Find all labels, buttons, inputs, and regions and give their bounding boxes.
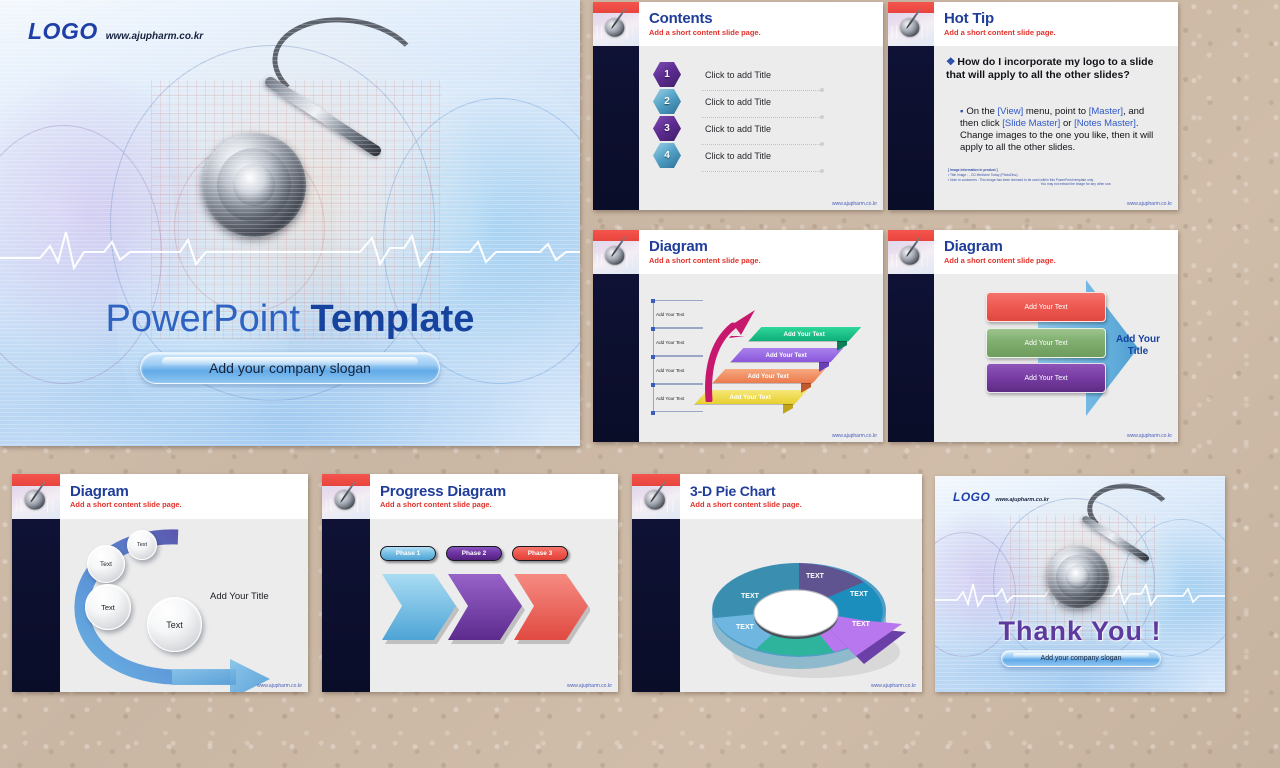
bubble-label: Text — [166, 620, 183, 630]
bubble-label: Text — [101, 603, 115, 612]
ecg-icon — [13, 499, 59, 513]
arrow-diagram-slide[interactable]: Diagram Add a short content slide page. … — [888, 230, 1178, 442]
title-logo[interactable]: LOGO www.ajupharm.co.kr — [28, 18, 203, 45]
header-text: Contents Add a short content slide page. — [639, 2, 761, 46]
diamond-bullet-icon: ❖ — [946, 56, 955, 68]
logo-url: www.ajupharm.co.kr — [995, 497, 1049, 503]
title-slide-heading: PowerPoint Template — [0, 298, 580, 341]
kw-view: [View] — [998, 106, 1024, 117]
flow-bubble-4[interactable]: Text — [147, 597, 202, 652]
logo-text: LOGO — [28, 18, 98, 45]
slogan-text: Add your company slogan — [1041, 655, 1122, 662]
slide-header: Diagram Add a short content slide page. — [888, 230, 1178, 274]
header-thumbnail-image — [888, 230, 934, 274]
slide-subtitle: Add a short content slide page. — [690, 501, 802, 509]
slide-subtitle: Add a short content slide page. — [649, 29, 761, 37]
stethoscope-illustration — [1025, 484, 1185, 616]
step-diagram-slide[interactable]: Diagram Add a short content slide page. … — [593, 230, 883, 442]
slogan-pill[interactable]: Add your company slogan — [140, 352, 440, 384]
toc-number-badge: 1 — [653, 62, 681, 87]
kw-master: [Master] — [1089, 106, 1123, 117]
slide-title: Hot Tip — [944, 11, 1056, 27]
toc-row[interactable]: 1 Click to add Title — [653, 62, 875, 87]
decor-ring — [174, 143, 325, 312]
toc-label: Click to add Title — [705, 151, 771, 161]
header-text: Diagram Add a short content slide page. — [60, 474, 182, 519]
phase-label: Phase 3 — [528, 550, 553, 557]
flow-side-title: Add Your Title — [210, 591, 269, 602]
header-text: Diagram Add a short content slide page. — [934, 230, 1056, 274]
ecg-icon — [323, 499, 369, 513]
title-slide[interactable]: LOGO www.ajupharm.co.kr PowerPoint Templ… — [0, 0, 580, 446]
toc-number-badge: 4 — [653, 143, 681, 168]
slide-header: Hot Tip Add a short content slide page. — [888, 2, 1178, 46]
hot-tip-fine-print: [ Image information in product ] ▪ Title… — [948, 168, 1170, 187]
phase-label: Phase 2 — [462, 550, 487, 557]
phase-label: Phase 1 — [396, 550, 421, 557]
arrow-title-line-2: Title — [1128, 346, 1148, 357]
slide-footer-url[interactable]: www.ajupharm.co.kr — [1127, 201, 1172, 207]
phase-chevrons[interactable] — [374, 568, 590, 646]
square-bullet-icon: ▪ — [960, 106, 963, 117]
slide-title: 3-D Pie Chart — [690, 484, 802, 499]
thankyou-heading: Thank You ! — [935, 616, 1225, 647]
phase-pill-2[interactable]: Phase 2 — [446, 546, 502, 561]
toc-label: Click to add Title — [705, 124, 771, 134]
ecg-waveform — [935, 576, 1225, 612]
kw-slide-master: [Slide Master] — [1002, 118, 1060, 129]
slide-footer-url[interactable]: www.ajupharm.co.kr — [257, 683, 302, 689]
slide-header: Diagram Add a short content slide page. — [12, 474, 308, 519]
arrow-title-line-1: Add Your — [1116, 334, 1160, 345]
toc-row[interactable]: 3 Click to add Title — [653, 116, 875, 141]
fine-print-heading: [ Image information in product ] — [948, 168, 998, 172]
hot-tip-answer: ▪On the [View] menu, point to [Master], … — [960, 106, 1156, 154]
header-thumbnail-image — [12, 474, 60, 519]
thank-you-slide[interactable]: LOGO www.ajupharm.co.kr Thank You ! Add … — [935, 476, 1225, 692]
title-part-powerpoint: PowerPoint — [106, 298, 311, 340]
header-thumbnail-image — [322, 474, 370, 519]
arrow-box-2[interactable]: Add Your Text — [986, 328, 1106, 358]
thankyou-text: Thank You ! — [998, 616, 1161, 646]
slide-title: Diagram — [944, 239, 1056, 255]
header-thumbnail-image — [632, 474, 680, 519]
hot-tip-question: ❖How do I incorporate my logo to a slide… — [946, 56, 1162, 82]
slide-footer-url[interactable]: www.ajupharm.co.kr — [832, 433, 877, 439]
ecg-icon — [889, 26, 933, 39]
progress-diagram-slide[interactable]: Progress Diagram Add a short content sli… — [322, 474, 618, 692]
flow-bubble-3[interactable]: Text — [85, 584, 131, 630]
pie-chart-slide[interactable]: 3-D Pie Chart Add a short content slide … — [632, 474, 922, 692]
slide-subtitle: Add a short content slide page. — [944, 257, 1056, 265]
toc-label: Click to add Title — [705, 97, 771, 107]
header-text: Hot Tip Add a short content slide page. — [934, 2, 1056, 46]
slide-header: 3-D Pie Chart Add a short content slide … — [632, 474, 922, 519]
header-thumbnail-image — [593, 2, 639, 46]
slide-footer-url[interactable]: www.ajupharm.co.kr — [1127, 433, 1172, 439]
fine-print-line-1: ▪ Title Image : - CD Medicine Today (Pho… — [948, 173, 1018, 177]
question-text: How do I incorporate my logo to a slide … — [946, 56, 1153, 81]
circle-diagram-slide[interactable]: Diagram Add a short content slide page. — [12, 474, 308, 692]
slide-title: Contents — [649, 11, 761, 27]
slide-subtitle: Add a short content slide page. — [944, 29, 1056, 37]
slide-footer-url[interactable]: www.ajupharm.co.kr — [871, 683, 916, 689]
flow-bubble-1[interactable]: Text — [127, 530, 157, 560]
logo-url: www.ajupharm.co.kr — [106, 31, 203, 42]
toc-number-badge: 3 — [653, 116, 681, 141]
curved-arrow-icon — [693, 302, 773, 402]
contents-slide[interactable]: Contents Add a short content slide page.… — [593, 2, 883, 210]
toc-row[interactable]: 4 Click to add Title — [653, 143, 875, 168]
box-label: Add Your Text — [1024, 375, 1067, 382]
logo-text: LOGO — [953, 490, 990, 504]
toc-row[interactable]: 2 Click to add Title — [653, 89, 875, 114]
decor-ring — [0, 125, 162, 384]
slide-subtitle: Add a short content slide page. — [70, 501, 182, 509]
ecg-waveform — [0, 218, 580, 278]
hot-tip-slide[interactable]: Hot Tip Add a short content slide page. … — [888, 2, 1178, 210]
arrow-box-1[interactable]: Add Your Text — [986, 292, 1106, 322]
slide-title: Progress Diagram — [380, 484, 506, 500]
arrow-title: Add Your Title — [1106, 334, 1170, 357]
box-label: Add Your Text — [1024, 340, 1067, 347]
fine-print-line-2: ▪ Note to customers : This image has bee… — [948, 178, 1094, 182]
phase-pill-3[interactable]: Phase 3 — [512, 546, 568, 561]
slide-header: Progress Diagram Add a short content sli… — [322, 474, 618, 519]
bubble-label: Text — [100, 561, 112, 568]
ecg-icon — [594, 26, 638, 39]
header-text: Progress Diagram Add a short content sli… — [370, 474, 506, 519]
slide-footer-url[interactable]: www.ajupharm.co.kr — [567, 683, 612, 689]
flow-bubble-2[interactable]: Text — [87, 545, 125, 583]
ecg-icon — [633, 499, 679, 513]
answer-body: On the [View] menu, point to [Master], a… — [960, 106, 1153, 153]
pie-chart-graphic[interactable]: TEXT TEXT TEXT TEXT TEXT TEXT — [684, 524, 914, 686]
thankyou-slogan-pill[interactable]: Add your company slogan — [1001, 650, 1161, 667]
slide-header: Contents Add a short content slide page. — [593, 2, 883, 46]
header-thumbnail-image — [888, 2, 934, 46]
decor-ring — [110, 45, 435, 402]
header-text: 3-D Pie Chart Add a short content slide … — [680, 474, 802, 519]
box-label: Add Your Text — [1024, 304, 1067, 311]
phase-pill-1[interactable]: Phase 1 — [380, 546, 436, 561]
toc-number-badge: 2 — [653, 89, 681, 114]
slide-footer-url[interactable]: www.ajupharm.co.kr — [832, 201, 877, 207]
bubble-label: Text — [137, 542, 147, 548]
template-preview-canvas: LOGO www.ajupharm.co.kr PowerPoint Templ… — [0, 0, 1280, 768]
step-label: Add Your Text — [784, 331, 825, 338]
slogan-text: Add your company slogan — [209, 360, 371, 376]
thankyou-logo[interactable]: LOGO www.ajupharm.co.kr — [953, 490, 1049, 504]
title-part-template: Template — [310, 298, 474, 340]
slide-subtitle: Add a short content slide page. — [380, 501, 506, 509]
fine-print-line-3: You may not extract the image for any ot… — [948, 182, 1170, 187]
ecg-icon — [889, 254, 933, 267]
toc-divider — [701, 171, 820, 172]
arrow-box-3[interactable]: Add Your Text — [986, 363, 1106, 393]
kw-notes-master: [Notes Master] — [1074, 118, 1136, 129]
toc-label: Click to add Title — [705, 70, 771, 80]
stethoscope-illustration — [150, 18, 450, 248]
slide-title: Diagram — [70, 484, 182, 500]
